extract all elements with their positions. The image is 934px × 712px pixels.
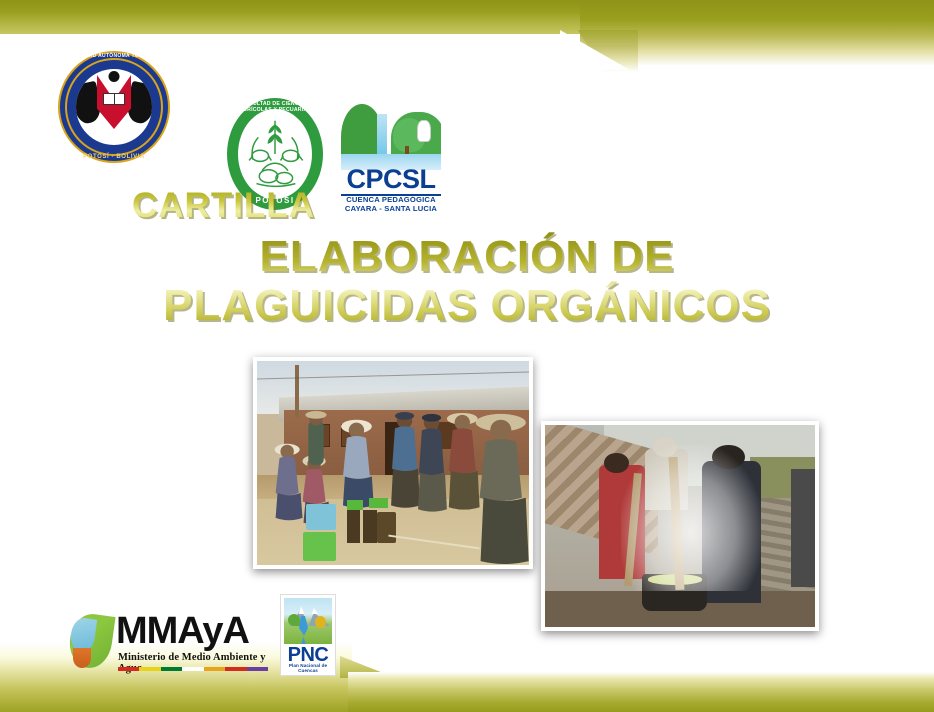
green-bucket <box>303 532 336 561</box>
person <box>447 413 480 510</box>
mmaya-wordmark: MMAyA <box>116 612 249 650</box>
person-foreground <box>476 414 529 564</box>
book-icon <box>103 93 125 105</box>
mmaya-leaf-mark <box>70 614 112 668</box>
watershed-logo-icon: CPCSL CUENCA PEDAGÓGICA CAYARA - SANTA L… <box>335 96 447 212</box>
top-band-left <box>0 0 590 34</box>
person-edge <box>791 469 815 586</box>
eagle-head-icon <box>109 71 120 82</box>
university-seal-icon: UNIVERSIDAD AUTÓNOMA TOMÁS FRÍAS POTOSÍ … <box>58 51 170 163</box>
photo-workshop-group <box>253 357 533 569</box>
dark-drum <box>347 510 361 543</box>
page-title-line1: ELABORACIÓN DE <box>260 232 675 281</box>
photo-boiling-pot <box>541 421 819 631</box>
waterfall-icon <box>377 114 387 158</box>
uatf-top-text: UNIVERSIDAD AUTÓNOMA TOMÁS FRÍAS <box>58 53 170 59</box>
person <box>391 412 420 508</box>
bottom-band-right <box>348 672 934 712</box>
faculty-top-text: FACULTAD DE CIENCIAS AGRÍCOLAS Y PECUARI… <box>227 101 323 113</box>
blue-bucket <box>306 504 336 531</box>
steam-smoke <box>621 445 761 590</box>
person <box>418 414 447 512</box>
watershed-plan-icon: PNC Plan Nacional de Cuencas <box>280 594 336 676</box>
bolivia-flag-bars <box>118 667 268 671</box>
page-title: ELABORACIÓN DE PLAGUICIDAS ORGÁNICOS <box>0 232 934 331</box>
cpcsl-landscape-icon <box>341 96 441 170</box>
photo-boiling-pot-image <box>545 425 815 627</box>
cover-slide: UNIVERSIDAD AUTÓNOMA TOMÁS FRÍAS POTOSÍ … <box>0 0 934 712</box>
leaf-logo-icon: MMAyA Ministerio de Medio Ambiente y Agu… <box>70 612 275 674</box>
pnc-landscape-icon <box>284 598 332 644</box>
photo-workshop-group-image <box>257 361 529 565</box>
dark-drum <box>377 512 396 543</box>
leaf-earth-icon <box>73 648 91 668</box>
uatf-emblem <box>76 69 152 145</box>
tree-icon <box>315 616 326 628</box>
dark-drum <box>363 510 377 543</box>
palm-icon <box>288 614 300 626</box>
page-title-line2: PLAGUICIDAS ORGÁNICOS <box>0 281 934 330</box>
person <box>275 444 303 521</box>
llama-icon <box>417 120 431 142</box>
pnc-subtitle: Plan Nacional de Cuencas <box>281 663 335 673</box>
pnc-acronym: PNC <box>281 645 335 665</box>
cpcsl-subtitle: CUENCA PEDAGÓGICA CAYARA - SANTA LUCIA <box>335 196 447 213</box>
cartilla-label: CARTILLA <box>132 186 315 226</box>
snowcap-icon <box>290 604 330 614</box>
cpcsl-acronym: CPCSL <box>335 166 447 193</box>
cpcsl-subtitle-line2: CAYARA - SANTA LUCIA <box>335 205 447 214</box>
green-container <box>347 500 363 510</box>
person <box>341 420 374 508</box>
green-container <box>369 498 388 508</box>
uatf-bottom-text: POTOSÍ - BOLIVIA <box>58 154 170 160</box>
person <box>305 411 326 465</box>
